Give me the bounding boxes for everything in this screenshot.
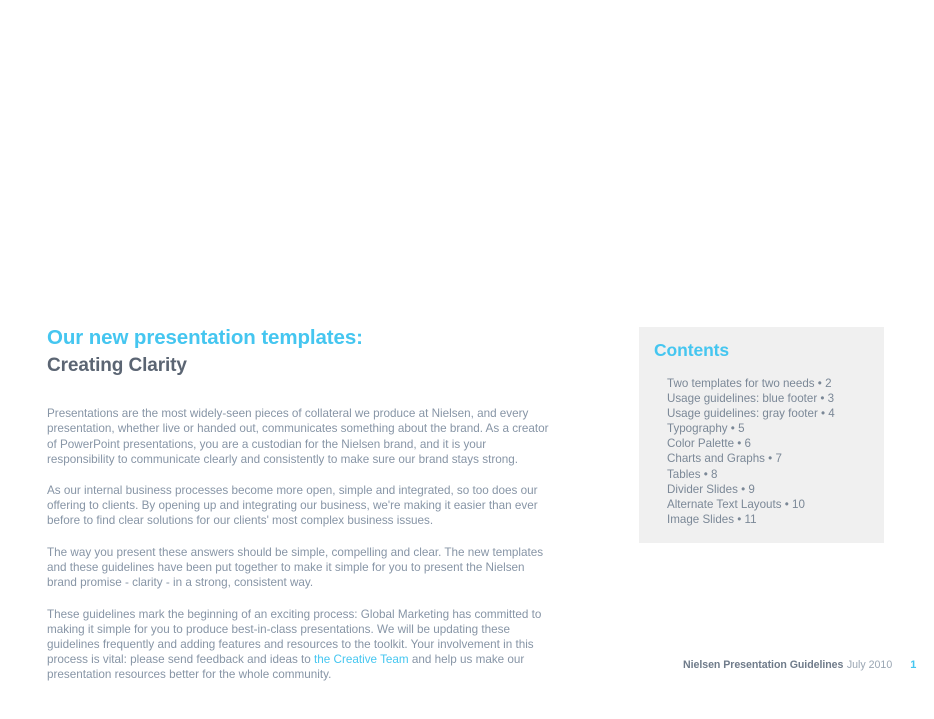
list-item[interactable]: Charts and Graphs • 7: [667, 451, 835, 466]
body-paragraph-1: Presentations are the most widely-seen p…: [47, 406, 549, 466]
list-item[interactable]: Two templates for two needs • 2: [667, 376, 835, 391]
list-item[interactable]: Image Slides • 11: [667, 512, 835, 527]
page-title-primary: Our new presentation templates:: [47, 325, 549, 351]
list-item[interactable]: Divider Slides • 9: [667, 482, 835, 497]
list-item[interactable]: Color Palette • 6: [667, 436, 835, 451]
slide-canvas: Our new presentation templates: Creating…: [0, 0, 934, 719]
list-item[interactable]: Usage guidelines: blue footer • 3: [667, 391, 835, 406]
contents-list: Two templates for two needs • 2 Usage gu…: [667, 376, 835, 527]
body-paragraph-4: These guidelines mark the beginning of a…: [47, 607, 549, 682]
slide-footer: Nielsen Presentation Guidelines July 201…: [683, 659, 916, 671]
list-item[interactable]: Usage guidelines: gray footer • 4: [667, 406, 835, 421]
contents-heading: Contents: [654, 340, 729, 361]
body-paragraph-2: As our internal business processes becom…: [47, 483, 549, 528]
creative-team-link[interactable]: the Creative Team: [314, 653, 409, 666]
footer-page-number: 1: [910, 659, 916, 671]
content-column: Our new presentation templates: Creating…: [47, 325, 549, 682]
body-copy: Presentations are the most widely-seen p…: [47, 406, 549, 682]
contents-panel: Contents Two templates for two needs • 2…: [639, 327, 884, 543]
footer-date-label: July 2010: [847, 659, 892, 671]
list-item[interactable]: Tables • 8: [667, 467, 835, 482]
body-paragraph-3: The way you present these answers should…: [47, 545, 549, 590]
footer-brand-label: Nielsen Presentation Guidelines: [683, 659, 843, 671]
list-item[interactable]: Alternate Text Layouts • 10: [667, 497, 835, 512]
list-item[interactable]: Typography • 5: [667, 421, 835, 436]
page-title-secondary: Creating Clarity: [47, 354, 549, 379]
